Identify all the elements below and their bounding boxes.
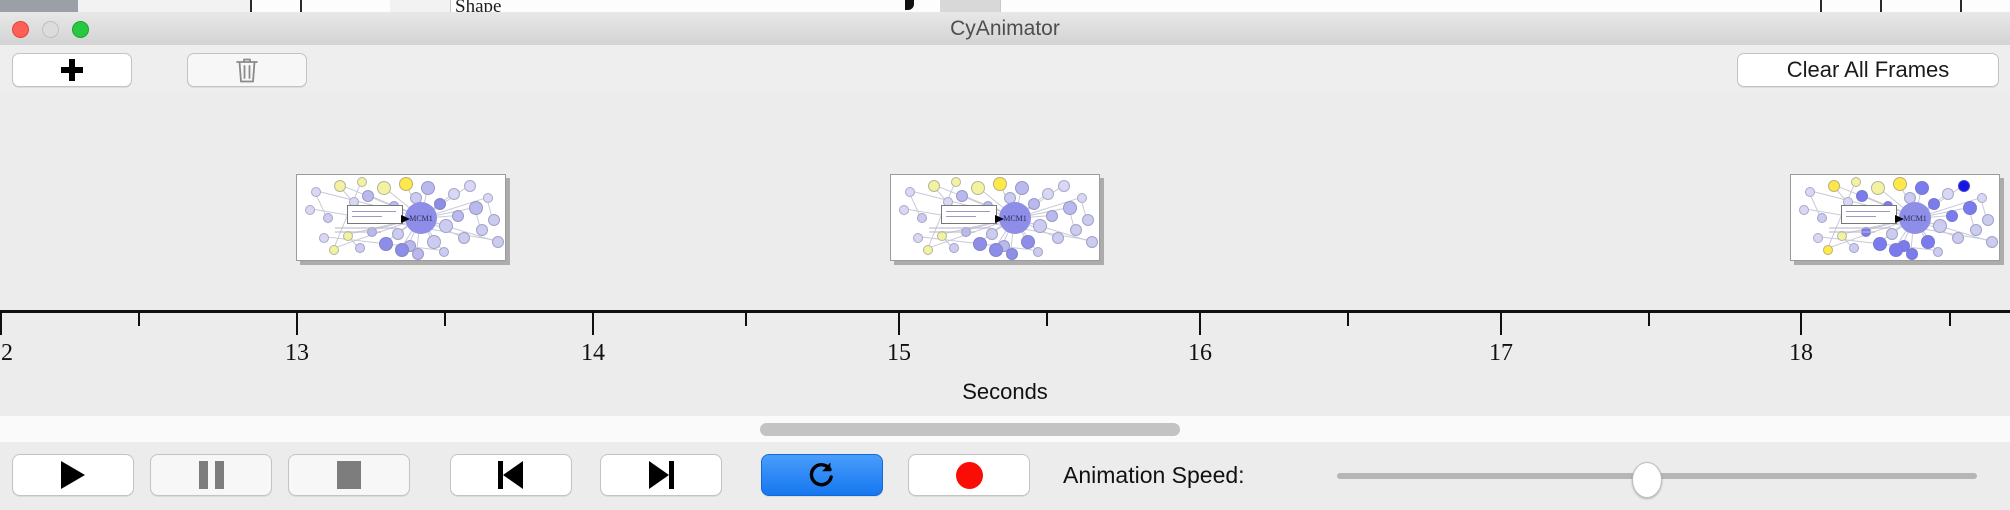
- network-caption-line: [335, 231, 381, 233]
- network-node: [1893, 177, 1907, 191]
- zoom-button[interactable]: [72, 21, 89, 38]
- network-node: [986, 228, 998, 240]
- bg-seg: [78, 0, 189, 12]
- network-node: [1813, 233, 1823, 243]
- network-node: [1006, 248, 1018, 260]
- bg-seg: [188, 0, 251, 12]
- network-node: [1946, 210, 1958, 222]
- network-node: [1021, 235, 1035, 249]
- network-node: [377, 181, 391, 195]
- network-caption-line: [1829, 231, 1875, 233]
- bg-marker: [905, 0, 914, 10]
- network-node: [1052, 232, 1064, 244]
- network-node: [464, 180, 476, 192]
- timeline-major-tick: [1199, 313, 1201, 335]
- network-node: [305, 205, 315, 215]
- skip-next-icon: [648, 461, 674, 489]
- network-node: [334, 180, 346, 192]
- network-node: [311, 187, 321, 197]
- loop-button[interactable]: [761, 454, 883, 496]
- network-node: [928, 180, 940, 192]
- network-node: [989, 243, 1003, 257]
- tooltip-text-line: [1846, 216, 1876, 217]
- tooltip-text-line: [352, 216, 382, 217]
- bg-tick: [300, 0, 302, 12]
- network-node: [1015, 181, 1029, 195]
- clear-all-frames-button[interactable]: Clear All Frames: [1737, 53, 1999, 87]
- network-node: [427, 235, 441, 249]
- timeline-axis-line: [0, 310, 2010, 313]
- window-traffic-lights: [12, 21, 89, 38]
- network-node: [971, 181, 985, 195]
- network-node: [492, 236, 504, 248]
- network-node: [362, 190, 374, 202]
- network-node: [1058, 180, 1070, 192]
- network-node: [357, 177, 367, 187]
- network-node: [1042, 188, 1054, 200]
- bg-tick: [1960, 0, 1962, 12]
- network-node: [1871, 181, 1885, 195]
- title-bar: CyAnimator: [0, 12, 2010, 46]
- record-button[interactable]: [908, 454, 1030, 496]
- scrollbar-thumb[interactable]: [760, 423, 1180, 436]
- tooltip-text-line: [946, 211, 990, 212]
- network-node: [1033, 247, 1043, 257]
- timeline-major-tick: [1500, 313, 1502, 335]
- timeline-major-tick: [1800, 313, 1802, 335]
- network-node: [1046, 210, 1058, 222]
- network-node: [452, 210, 464, 222]
- play-button[interactable]: [12, 454, 134, 496]
- skip-previous-button[interactable]: [450, 454, 572, 496]
- network-node: [1028, 198, 1040, 210]
- network-caption-line: [929, 227, 991, 229]
- network-node: [1063, 201, 1077, 215]
- bg-tick: [250, 0, 252, 12]
- play-icon: [61, 461, 85, 489]
- network-node: [1942, 188, 1954, 200]
- network-node: [905, 187, 915, 197]
- network-caption-line: [1829, 227, 1891, 229]
- network-tooltip: [347, 205, 403, 224]
- playback-controls: Animation Speed:: [0, 442, 2010, 510]
- network-node: [1886, 228, 1898, 240]
- tooltip-text-line: [1846, 211, 1890, 212]
- network-node: [949, 243, 959, 253]
- timeline-minor-tick: [745, 313, 747, 326]
- timeline-panel[interactable]: MCM1 MCM1 MCM1 12131415161718 Seconds: [0, 92, 2010, 417]
- animation-speed-label: Animation Speed:: [1063, 454, 1245, 496]
- tooltip-pointer: [401, 215, 410, 223]
- timeline-major-tick: [296, 313, 298, 335]
- stop-button[interactable]: [288, 454, 410, 496]
- network-caption-line: [335, 227, 397, 229]
- network-node: [355, 243, 365, 253]
- timeline-tick-label: 17: [1489, 340, 1513, 367]
- network-node: [1933, 247, 1943, 257]
- timeline-tick-label: 18: [1789, 340, 1813, 367]
- timeline-minor-tick: [1046, 313, 1048, 326]
- timeline-tick-label: 12: [0, 340, 13, 367]
- network-node: [899, 205, 909, 215]
- record-icon: [956, 462, 983, 489]
- network-node: [1963, 201, 1977, 215]
- network-node: [488, 214, 500, 226]
- tooltip-text-line: [352, 211, 396, 212]
- network-node: [1070, 224, 1082, 236]
- network-node: [923, 245, 933, 255]
- pause-icon: [199, 461, 224, 489]
- network-node: [1970, 224, 1982, 236]
- plus-icon: [61, 59, 83, 81]
- timeline-horizontal-scrollbar[interactable]: [0, 416, 2010, 443]
- network-node: [1915, 181, 1929, 195]
- network-node: [434, 198, 446, 210]
- close-button[interactable]: [12, 21, 29, 38]
- network-node: [993, 177, 1007, 191]
- minimize-button[interactable]: [42, 21, 59, 38]
- network-node: [1033, 219, 1047, 233]
- network-node: [1828, 180, 1840, 192]
- timeline-tick-label: 15: [887, 340, 911, 367]
- timeline-tick-label: 16: [1188, 340, 1212, 367]
- network-node: [1817, 213, 1827, 223]
- network-node: [1928, 198, 1940, 210]
- network-node: [1077, 193, 1087, 203]
- network-node: [973, 237, 987, 251]
- timeline-frame-thumbnail[interactable]: MCM1: [1790, 174, 2000, 261]
- tooltip-text-line: [946, 216, 976, 217]
- axis-title: Seconds: [0, 379, 2010, 405]
- timeline-tick-label: 13: [285, 340, 309, 367]
- timeline-minor-tick: [1648, 313, 1650, 326]
- network-node: [319, 233, 329, 243]
- network-node: [1933, 219, 1947, 233]
- network-node: [399, 177, 413, 191]
- cyanimator-window: Shape CyAnimator Clear All Frames MCM1 M…: [0, 0, 2010, 510]
- tooltip-pointer: [995, 215, 1004, 223]
- network-node: [439, 219, 453, 233]
- network-node: [1889, 243, 1903, 257]
- bg-tick: [1820, 0, 1822, 12]
- timeline-frame-thumbnail[interactable]: MCM1: [890, 174, 1100, 261]
- timeline-minor-tick: [1347, 313, 1349, 326]
- network-node: [1086, 236, 1098, 248]
- stop-icon: [337, 461, 361, 489]
- pause-button[interactable]: [150, 454, 272, 496]
- network-node: [951, 177, 961, 187]
- network-node: [1823, 245, 1833, 255]
- network-tooltip: [941, 205, 997, 224]
- toolbar: Clear All Frames: [0, 45, 2010, 93]
- timeline-major-tick: [0, 313, 2, 335]
- network-node: [1982, 214, 1994, 226]
- network-node: [1906, 248, 1918, 260]
- skip-previous-icon: [498, 461, 524, 489]
- timeline-minor-tick: [138, 313, 140, 326]
- skip-next-button[interactable]: [600, 454, 722, 496]
- network-node: [1952, 232, 1964, 244]
- animation-speed-slider-thumb[interactable]: [1632, 462, 1662, 498]
- network-node: [439, 247, 449, 257]
- bg-tick: [1880, 0, 1882, 12]
- network-node: [323, 213, 333, 223]
- trash-icon: [234, 56, 260, 84]
- timeline-tick-label: 14: [581, 340, 605, 367]
- delete-frame-button[interactable]: [187, 53, 307, 87]
- network-node: [1805, 187, 1815, 197]
- network-node: [913, 233, 923, 243]
- network-node: [1986, 236, 1998, 248]
- network-node: [1851, 177, 1861, 187]
- timeline-major-tick: [592, 313, 594, 335]
- network-node: [917, 213, 927, 223]
- network-node: [1849, 243, 1859, 253]
- network-caption-line: [929, 231, 975, 233]
- network-node: [476, 224, 488, 236]
- network-node: [395, 243, 409, 257]
- network-node: [1082, 214, 1094, 226]
- network-node: [1977, 193, 1987, 203]
- network-node: [392, 228, 404, 240]
- timeline-minor-tick: [444, 313, 446, 326]
- bg-seg: [940, 0, 1001, 12]
- network-tooltip: [1841, 205, 1897, 224]
- window-title: CyAnimator: [0, 12, 2010, 45]
- timeline-frame-thumbnail[interactable]: MCM1: [296, 174, 506, 261]
- bg-seg: [390, 0, 451, 12]
- network-node: [1958, 180, 1970, 192]
- timeline-minor-tick: [1949, 313, 1951, 326]
- network-node: [329, 245, 339, 255]
- network-node: [379, 237, 393, 251]
- network-node: [448, 188, 460, 200]
- network-node: [1873, 237, 1887, 251]
- network-node: [956, 190, 968, 202]
- network-node: [469, 201, 483, 215]
- network-node: [1856, 190, 1868, 202]
- network-node: [483, 193, 493, 203]
- network-node: [458, 232, 470, 244]
- bg-seg: [0, 0, 79, 12]
- add-frame-button[interactable]: [12, 53, 132, 87]
- network-node: [1921, 235, 1935, 249]
- network-node: [421, 181, 435, 195]
- loop-icon: [807, 460, 837, 490]
- network-node: [412, 248, 424, 260]
- timeline-major-tick: [898, 313, 900, 335]
- network-node: [1799, 205, 1809, 215]
- tooltip-pointer: [1895, 215, 1904, 223]
